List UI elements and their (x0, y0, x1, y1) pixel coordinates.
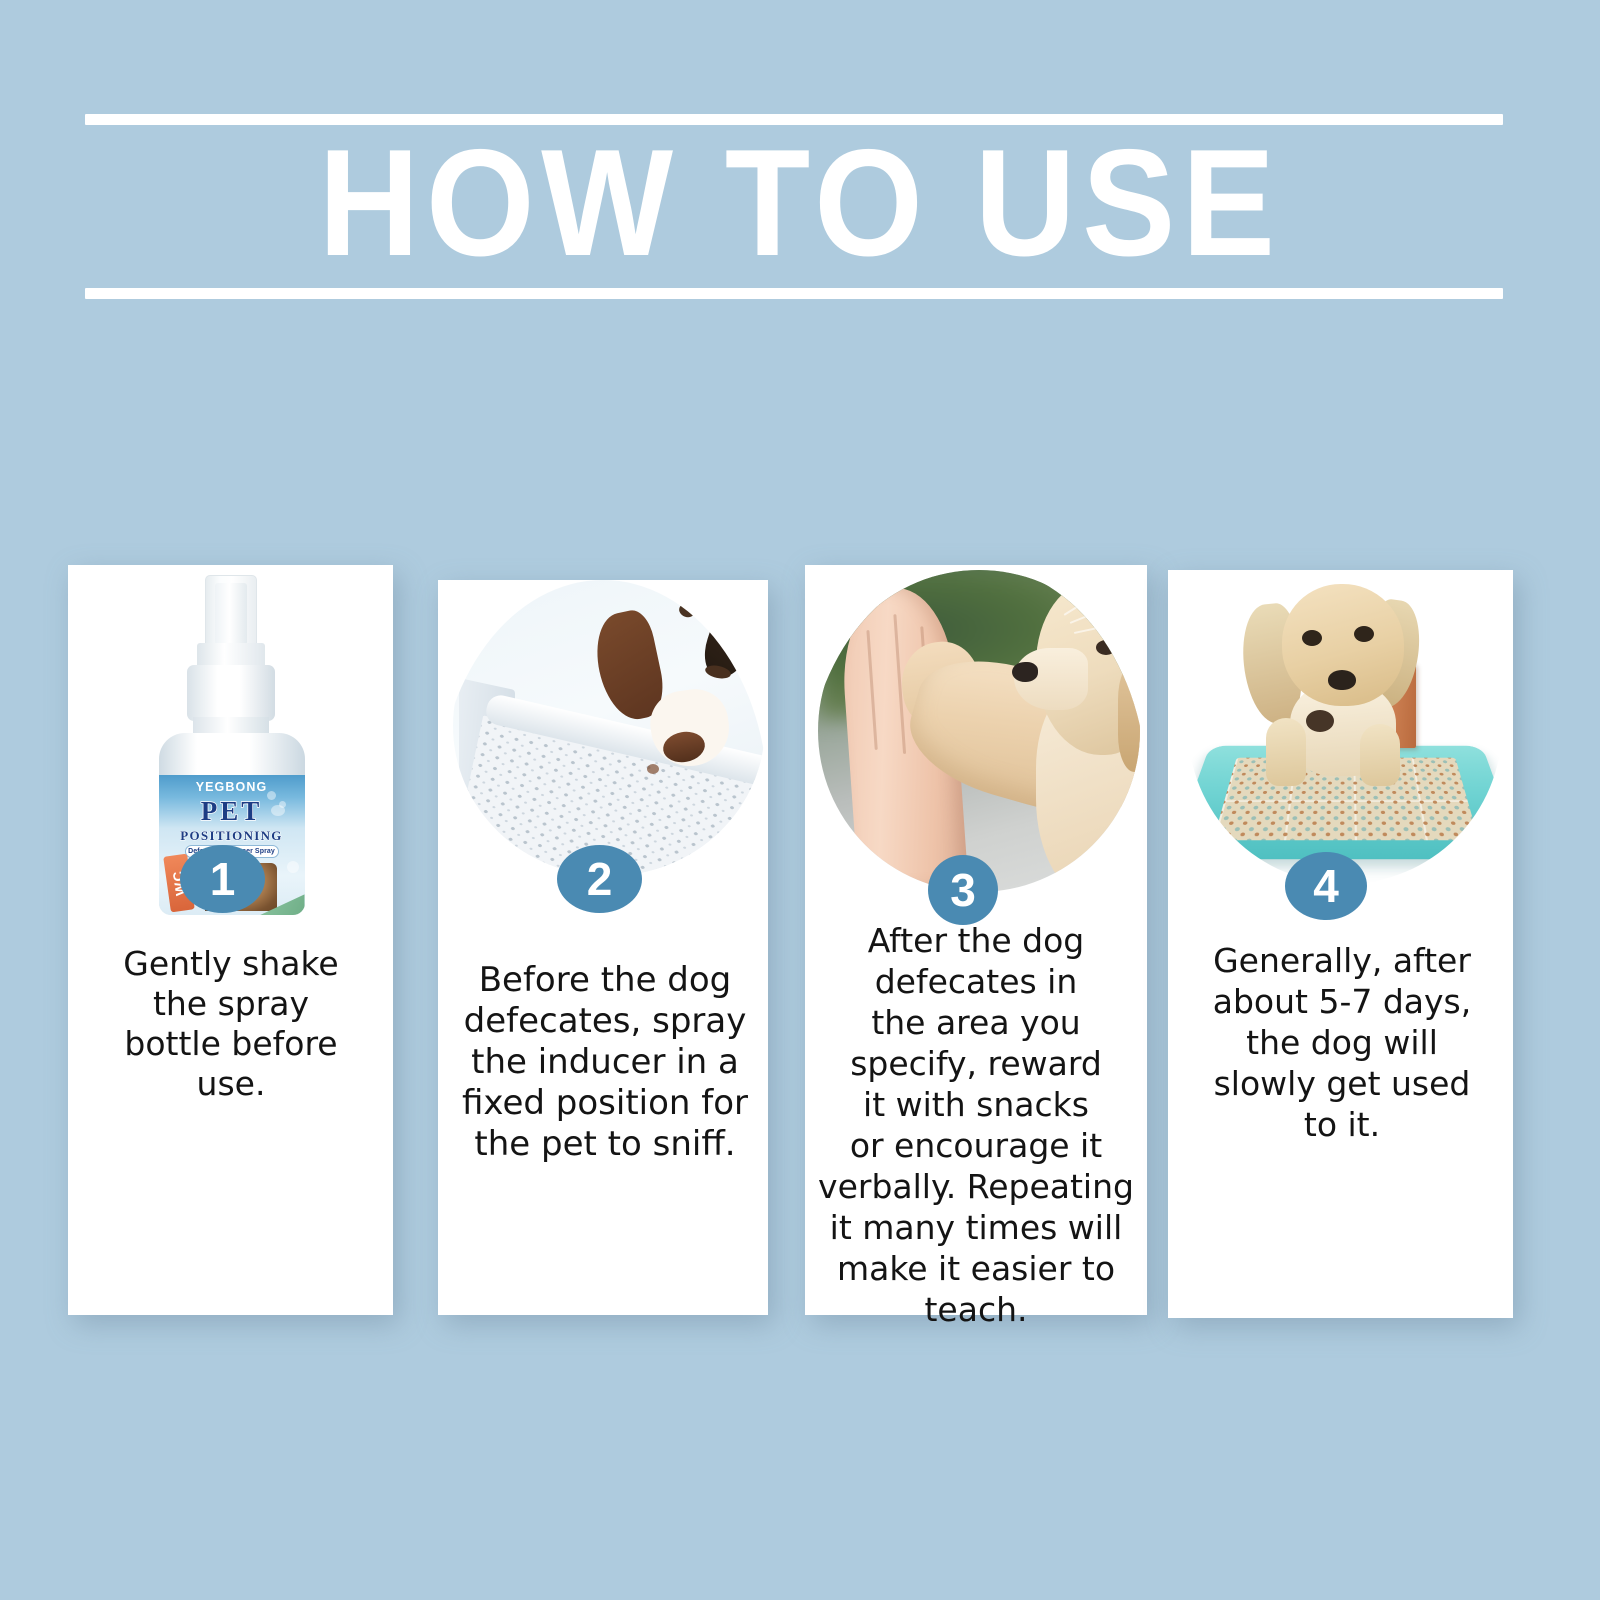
step-card-1: YEGBONG PET POSITIONING Defecation Induc… (68, 565, 393, 1315)
step-badge-4: 4 (1285, 852, 1367, 920)
dog-high-five-photo (818, 570, 1140, 892)
step-badge-1: 1 (180, 845, 265, 913)
bottle-pump-collar (187, 665, 275, 721)
puppy-leg-left (1266, 718, 1306, 786)
golden-retriever-ear (1118, 662, 1140, 772)
golden-retriever-eye (1096, 640, 1116, 655)
bottle-cap-inner (215, 583, 247, 645)
step-card-1-body: YEGBONG PET POSITIONING Defecation Induc… (68, 565, 393, 1315)
step-text-4: Generally, after about 5-7 days, the dog… (1172, 940, 1512, 1145)
bottle-label-brand: YEGBONG (159, 780, 305, 794)
steps-container: YEGBONG PET POSITIONING Defecation Induc… (0, 0, 1600, 1600)
dog-sniffing-tray-photo (453, 580, 765, 876)
step-badge-2: 2 (557, 845, 642, 913)
dachshund-puppy (1232, 578, 1428, 778)
bottle-label-name: PET (159, 797, 305, 825)
puppy-paw-marking (1306, 710, 1334, 732)
photo-ring-3 (811, 565, 1147, 899)
photo-ring-4 (1180, 570, 1510, 892)
spotted-dog-head (601, 582, 765, 797)
golden-retriever-nose (1012, 662, 1038, 682)
dog-spot (677, 602, 696, 620)
puppy-on-tray-photo (1188, 570, 1502, 884)
step-badge-3: 3 (928, 855, 998, 925)
bottle-label-name-line2: POSITIONING (159, 828, 305, 844)
puppy-leg-right (1360, 724, 1400, 786)
step-text-3: After the dog defecates in the area you … (806, 920, 1146, 1330)
step-card-2-body (438, 580, 768, 1315)
step-text-2: Before the dog defecates, spray the indu… (440, 960, 770, 1165)
dog-spot-secondary (647, 764, 659, 774)
step-text-1: Gently shake the spray bottle before use… (72, 944, 390, 1104)
puppy-eye-left (1302, 630, 1322, 646)
puppy-nose (1328, 670, 1356, 690)
step-card-2 (438, 580, 768, 1315)
puppy-eye-right (1354, 626, 1374, 642)
